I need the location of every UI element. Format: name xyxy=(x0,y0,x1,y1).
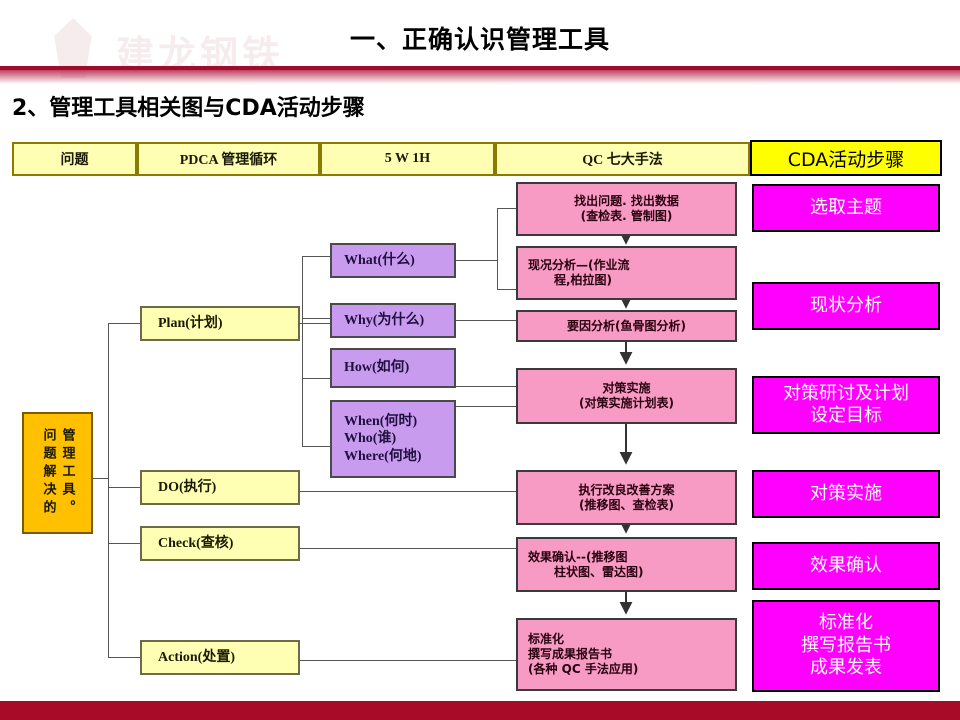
qc-box-current-analysis: 现况分析—(作业流 程,柏拉图) xyxy=(516,246,737,300)
table-header-cell-cda: CDA活动步骤 xyxy=(750,140,942,176)
connector-when-qc4 xyxy=(456,406,516,407)
connector-action-qc7 xyxy=(300,660,516,661)
qc5-line1: 执行改良改善方案 xyxy=(578,483,674,498)
cda3-line2: 设定目标 xyxy=(783,405,909,428)
qc-box-cause-analysis: 要因分析(鱼骨图分析) xyxy=(516,310,737,342)
qc5-line2: (推移图、查检表) xyxy=(578,498,674,513)
qc-box-countermeasure-impl: 对策实施 (对策实施计划表) xyxy=(516,368,737,424)
connector-spine-why xyxy=(302,318,330,319)
cda-box-effect-confirm: 效果确认 xyxy=(752,542,940,590)
qc7-line3: (各种 QC 手法应用) xyxy=(528,662,638,677)
qc2-line1: 现况分析—(作业流 xyxy=(528,258,630,273)
qc-box-execute-improvement: 执行改良改善方案 (推移图、查检表) xyxy=(516,470,737,525)
qc-box-standardize: 标准化 撰写成果报告书 (各种 QC 手法应用) xyxy=(516,618,737,691)
qc6-line1: 效果确认--(推移图 xyxy=(528,550,644,565)
qc2-line2: 程,柏拉图) xyxy=(528,273,630,288)
table-header-cell-qc: QC 七大手法 xyxy=(495,142,750,176)
w5h1-box-when-who-where: When(何时) Who(谁) Where(何地) xyxy=(330,400,456,478)
connector-spine-how xyxy=(302,378,330,379)
qc4-line2: (对策实施计划表) xyxy=(579,396,674,411)
w5h1-box-how: How(如何) xyxy=(330,348,456,388)
qc7-line1: 标准化 xyxy=(528,632,638,647)
root-box-problem-solving-tools: 管理工具。 问题解决的 xyxy=(22,412,93,534)
qc7-line2: 撰写成果报告书 xyxy=(528,647,638,662)
qc-box-find-problem: 找出问题. 找出数据 (查检表. 管制图) xyxy=(516,182,737,236)
w5h1-who-line: Who(谁) xyxy=(344,430,454,448)
connector-root-stub xyxy=(93,478,109,479)
w5h1-box-what: What(什么) xyxy=(330,243,456,278)
qc4-line1: 对策实施 xyxy=(579,381,674,396)
qc1-line2: (查检表. 管制图) xyxy=(574,209,679,224)
cda-box-current-analysis: 现状分析 xyxy=(752,282,940,330)
connector-spine-when xyxy=(302,446,330,447)
connector-what-qc2 xyxy=(497,289,516,290)
pdca-box-action: Action(处置) xyxy=(140,640,300,675)
footer-bar xyxy=(0,701,960,720)
pdca-box-check: Check(查核) xyxy=(140,526,300,561)
table-header-cell-problem: 问题 xyxy=(12,142,137,176)
cda-box-standardize: 标准化 撰写报告书 成果发表 xyxy=(752,600,940,692)
connector-what-spine xyxy=(497,208,498,290)
connector-what-out xyxy=(456,260,498,261)
qc6-line2: 柱状图、雷达图) xyxy=(528,565,644,580)
connector-5w1h-spine xyxy=(302,256,303,446)
pdca-box-plan: Plan(计划) xyxy=(140,306,300,341)
root-box-col-right: 管理工具。 xyxy=(61,428,74,518)
qc1-line1: 找出问题. 找出数据 xyxy=(574,194,679,209)
slide-root: 建龙钢铁 一、正确认识管理工具 2、管理工具相关图与CDA活动步骤 问题 PDC… xyxy=(0,0,960,720)
connector-spine-check xyxy=(108,543,140,544)
w5h1-where-line: Where(何地) xyxy=(344,448,454,466)
section-subtitle: 2、管理工具相关图与CDA活动步骤 xyxy=(12,90,365,122)
table-header-cell-5w1h: 5 W 1H xyxy=(320,142,495,176)
connector-check-qc6 xyxy=(300,548,516,549)
connector-how-qc4 xyxy=(456,386,516,387)
page-title: 一、正确认识管理工具 xyxy=(0,20,960,56)
connector-why-qc3 xyxy=(456,320,516,321)
w5h1-box-why: Why(为什么) xyxy=(330,303,456,338)
cda-box-countermeasure-plan: 对策研讨及计划 设定目标 xyxy=(752,376,940,434)
cda6-line2: 撰写报告书 xyxy=(801,635,891,658)
title-divider-fade xyxy=(0,70,960,84)
pdca-box-do: DO(执行) xyxy=(140,470,300,505)
connector-do-qc5 xyxy=(300,491,516,492)
w5h1-when-line: When(何时) xyxy=(344,413,454,431)
cda6-line3: 成果发表 xyxy=(801,657,891,680)
cda-box-select-topic: 选取主题 xyxy=(752,184,940,232)
connector-plan-out xyxy=(300,323,332,324)
connector-spine-action xyxy=(108,657,140,658)
connector-spine-what xyxy=(302,256,330,257)
table-header-cell-pdca: PDCA 管理循环 xyxy=(137,142,320,176)
connector-what-qc1 xyxy=(497,208,516,209)
connector-spine-do xyxy=(108,487,140,488)
qc-box-effect-confirm: 效果确认--(推移图 柱状图、雷达图) xyxy=(516,537,737,592)
cda6-line1: 标准化 xyxy=(801,612,891,635)
connector-root-spine xyxy=(108,323,109,658)
cda-box-countermeasure-impl: 对策实施 xyxy=(752,470,940,518)
cda3-line1: 对策研讨及计划 xyxy=(783,383,909,406)
root-box-col-left: 问题解决的 xyxy=(42,428,55,518)
connector-spine-plan xyxy=(108,323,140,324)
